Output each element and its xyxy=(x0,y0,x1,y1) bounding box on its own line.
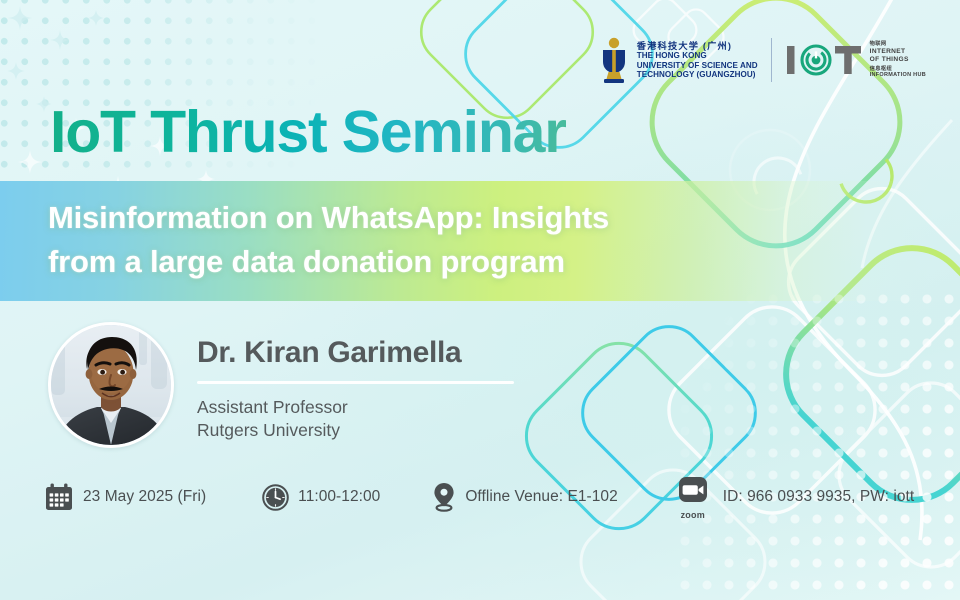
talk-title-line-2: from a large data donation program xyxy=(48,240,748,284)
hkust-name-en-1: THE HONG KONG xyxy=(637,51,758,60)
hkust-logo: 香港科技大学 (广州) THE HONG KONG UNIVERSITY OF … xyxy=(599,36,758,84)
seminar-poster: 香港科技大学 (广州) THE HONG KONG UNIVERSITY OF … xyxy=(0,0,960,600)
event-date-text: 23 May 2025 (Fri) xyxy=(83,488,206,506)
zoom-logo: zoom xyxy=(672,476,714,518)
zoom-brand-label: zoom xyxy=(672,510,714,520)
iot-logo: 物联网 INTERNET OF THINGS 信息枢纽 INFORMATION … xyxy=(785,41,926,78)
talk-title: Misinformation on WhatsApp: Insights fro… xyxy=(48,196,748,284)
speaker-name: Dr. Kiran Garimella xyxy=(197,336,514,370)
calendar-icon xyxy=(44,482,74,512)
event-online-text: ID: 966 0933 9935, PW: iott xyxy=(723,488,915,506)
page-title: IoT Thrust Seminar xyxy=(50,103,566,162)
event-date: 23 May 2025 (Fri) xyxy=(44,482,206,512)
iot-logo-tagline: 物联网 INTERNET OF THINGS 信息枢纽 INFORMATION … xyxy=(870,41,926,78)
speaker-title: Assistant Professor xyxy=(197,396,514,419)
location-pin-icon xyxy=(432,482,456,512)
event-details-bar: 23 May 2025 (Fri) 11:00-12:00 xyxy=(44,476,914,518)
speaker-affiliation: Rutgers University xyxy=(197,419,514,442)
iot-tag-en-2: OF THINGS xyxy=(870,56,926,64)
talk-title-line-1: Misinformation on WhatsApp: Insights xyxy=(48,196,748,240)
avatar xyxy=(48,322,174,448)
clock-icon xyxy=(262,484,289,511)
hkust-name-en-2: UNIVERSITY OF SCIENCE AND xyxy=(637,61,758,70)
logo-group: 香港科技大学 (广州) THE HONG KONG UNIVERSITY OF … xyxy=(599,36,926,84)
speaker-info: Dr. Kiran Garimella Assistant Professor … xyxy=(197,322,514,443)
hkust-logo-text: 香港科技大学 (广州) THE HONG KONG UNIVERSITY OF … xyxy=(637,41,758,79)
logo-divider xyxy=(771,38,772,82)
event-online: zoom ID: 966 0933 9935, PW: iott xyxy=(672,476,915,518)
iot-tag-en-1: INTERNET xyxy=(870,48,926,56)
event-venue: Offline Venue: E1-102 xyxy=(432,482,617,512)
event-time: 11:00-12:00 xyxy=(262,484,380,511)
hkust-name-en-3: TECHNOLOGY (GUANGZHOU) xyxy=(637,70,758,79)
iot-tag-en-3: INFORMATION HUB xyxy=(870,72,926,79)
event-venue-text: Offline Venue: E1-102 xyxy=(465,488,617,506)
hkust-name-cn: 香港科技大学 (广州) xyxy=(637,41,758,51)
speaker-divider xyxy=(197,381,514,384)
iot-target-icon xyxy=(785,43,863,77)
speaker-block: Dr. Kiran Garimella Assistant Professor … xyxy=(48,322,514,448)
hkust-shield-emblem-icon xyxy=(599,36,629,84)
speaker-portrait-photo xyxy=(51,325,171,445)
dot-pattern-bottom-right xyxy=(674,288,960,600)
zoom-icon xyxy=(672,476,714,508)
event-time-text: 11:00-12:00 xyxy=(298,488,380,506)
